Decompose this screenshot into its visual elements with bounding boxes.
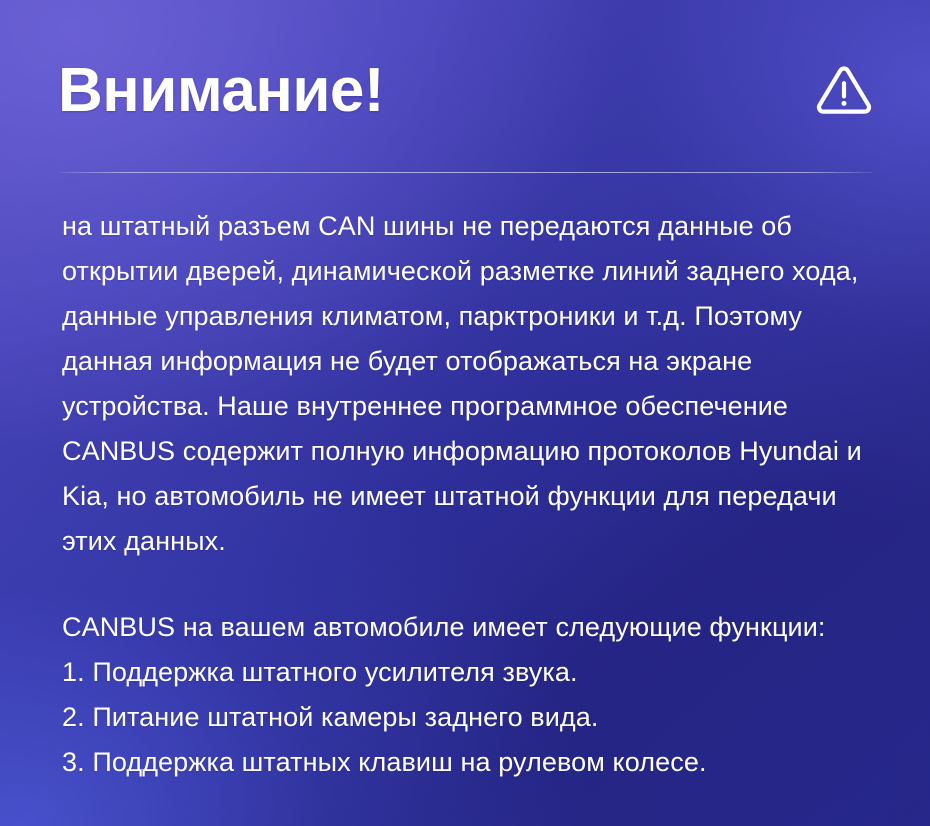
- warning-triangle-icon: [816, 65, 874, 117]
- banner-body: на штатный разъем CAN шины не передаются…: [62, 204, 880, 785]
- header-divider: [60, 172, 872, 173]
- main-paragraph: на штатный разъем CAN шины не передаются…: [62, 204, 880, 564]
- list-item: 2. Питание штатной камеры заднего вида.: [62, 695, 880, 740]
- page-title: Внимание!: [58, 60, 384, 122]
- list-item: 1. Поддержка штатного усилителя звука.: [62, 650, 880, 695]
- features-list: 1. Поддержка штатного усилителя звука. 2…: [62, 650, 880, 785]
- warning-banner: Внимание! на штатный разъем CAN шины не …: [0, 0, 930, 826]
- features-intro-paragraph: CANBUS на вашем автомобиле имеет следующ…: [62, 605, 880, 650]
- list-item: 3. Поддержка штатных клавиш на рулевом к…: [62, 740, 880, 785]
- banner-header: Внимание!: [58, 54, 874, 128]
